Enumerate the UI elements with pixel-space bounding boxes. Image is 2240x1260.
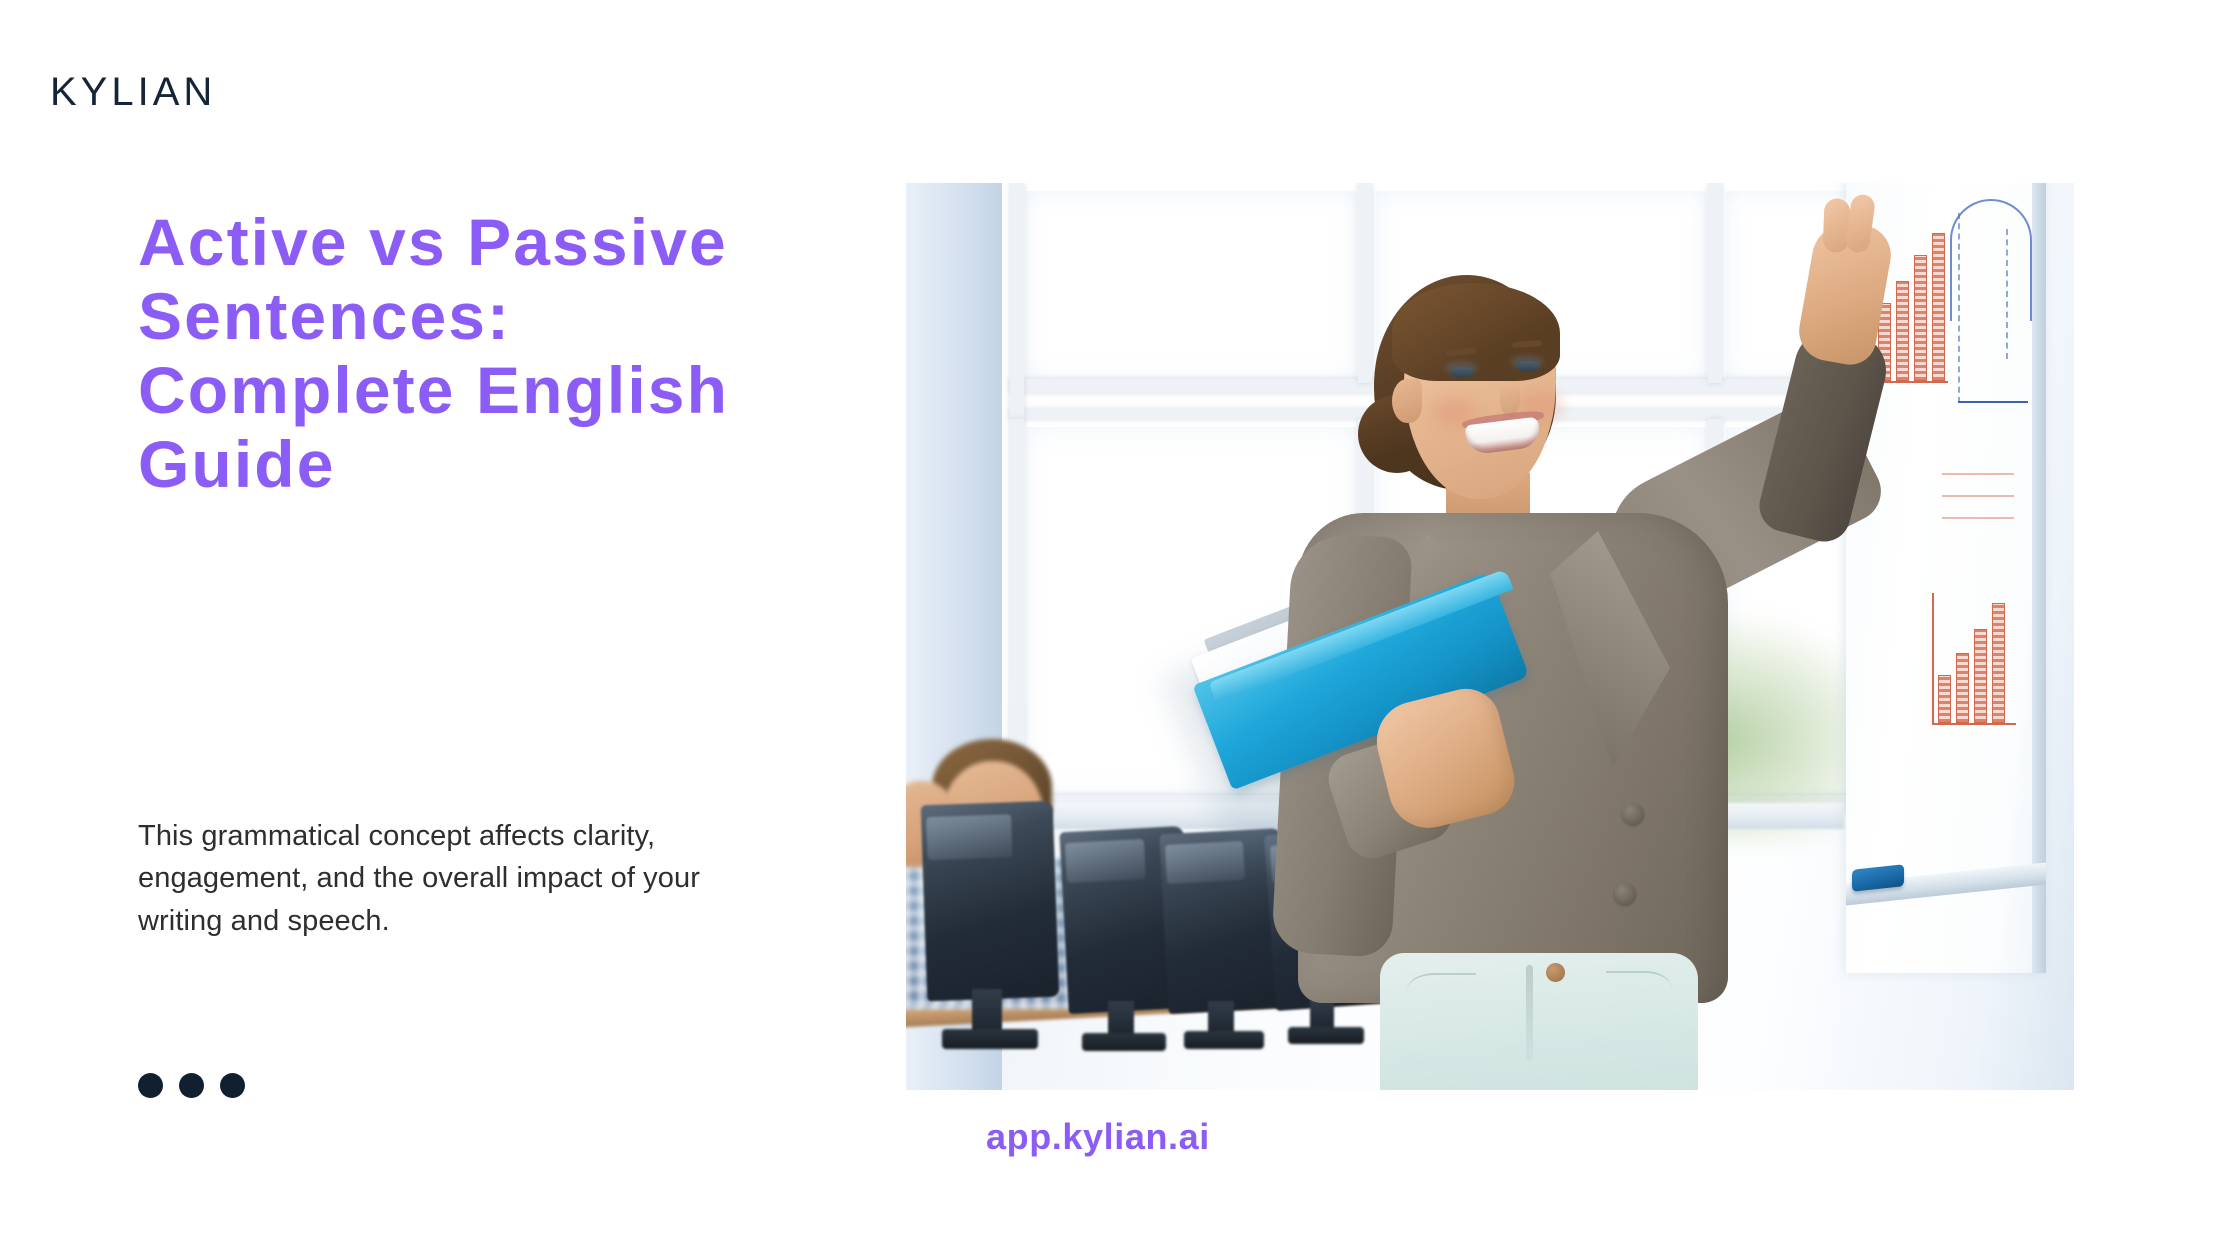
headline-block: Active vs Passive Sentences: Complete En…	[138, 206, 838, 502]
teacher-ear	[1392, 379, 1422, 423]
hero-photo	[906, 183, 2074, 1090]
jeans-pocket	[1406, 973, 1476, 1021]
teacher-right-hand	[1794, 217, 1895, 368]
teacher-figure	[906, 183, 2074, 1090]
slide-canvas: KYLIAN Active vs Passive Sentences: Comp…	[0, 0, 2240, 1260]
page-title: Active vs Passive Sentences: Complete En…	[138, 206, 818, 502]
decorative-dots	[138, 1073, 245, 1098]
blazer-button	[1614, 883, 1636, 905]
brand-logo: KYLIAN	[50, 72, 216, 112]
dot-icon	[138, 1073, 163, 1098]
subtitle-paragraph: This grammatical concept affects clarity…	[138, 815, 758, 942]
blazer-button	[1622, 803, 1644, 825]
teacher-eye	[1516, 361, 1540, 372]
classroom-photo	[906, 183, 2074, 1090]
site-url[interactable]: app.kylian.ai	[986, 1116, 1210, 1158]
dot-icon	[220, 1073, 245, 1098]
jeans-button	[1546, 963, 1565, 982]
jeans-pocket	[1606, 971, 1672, 1017]
teacher-eye	[1450, 367, 1474, 378]
jeans-fly	[1526, 965, 1533, 1061]
dot-icon	[179, 1073, 204, 1098]
